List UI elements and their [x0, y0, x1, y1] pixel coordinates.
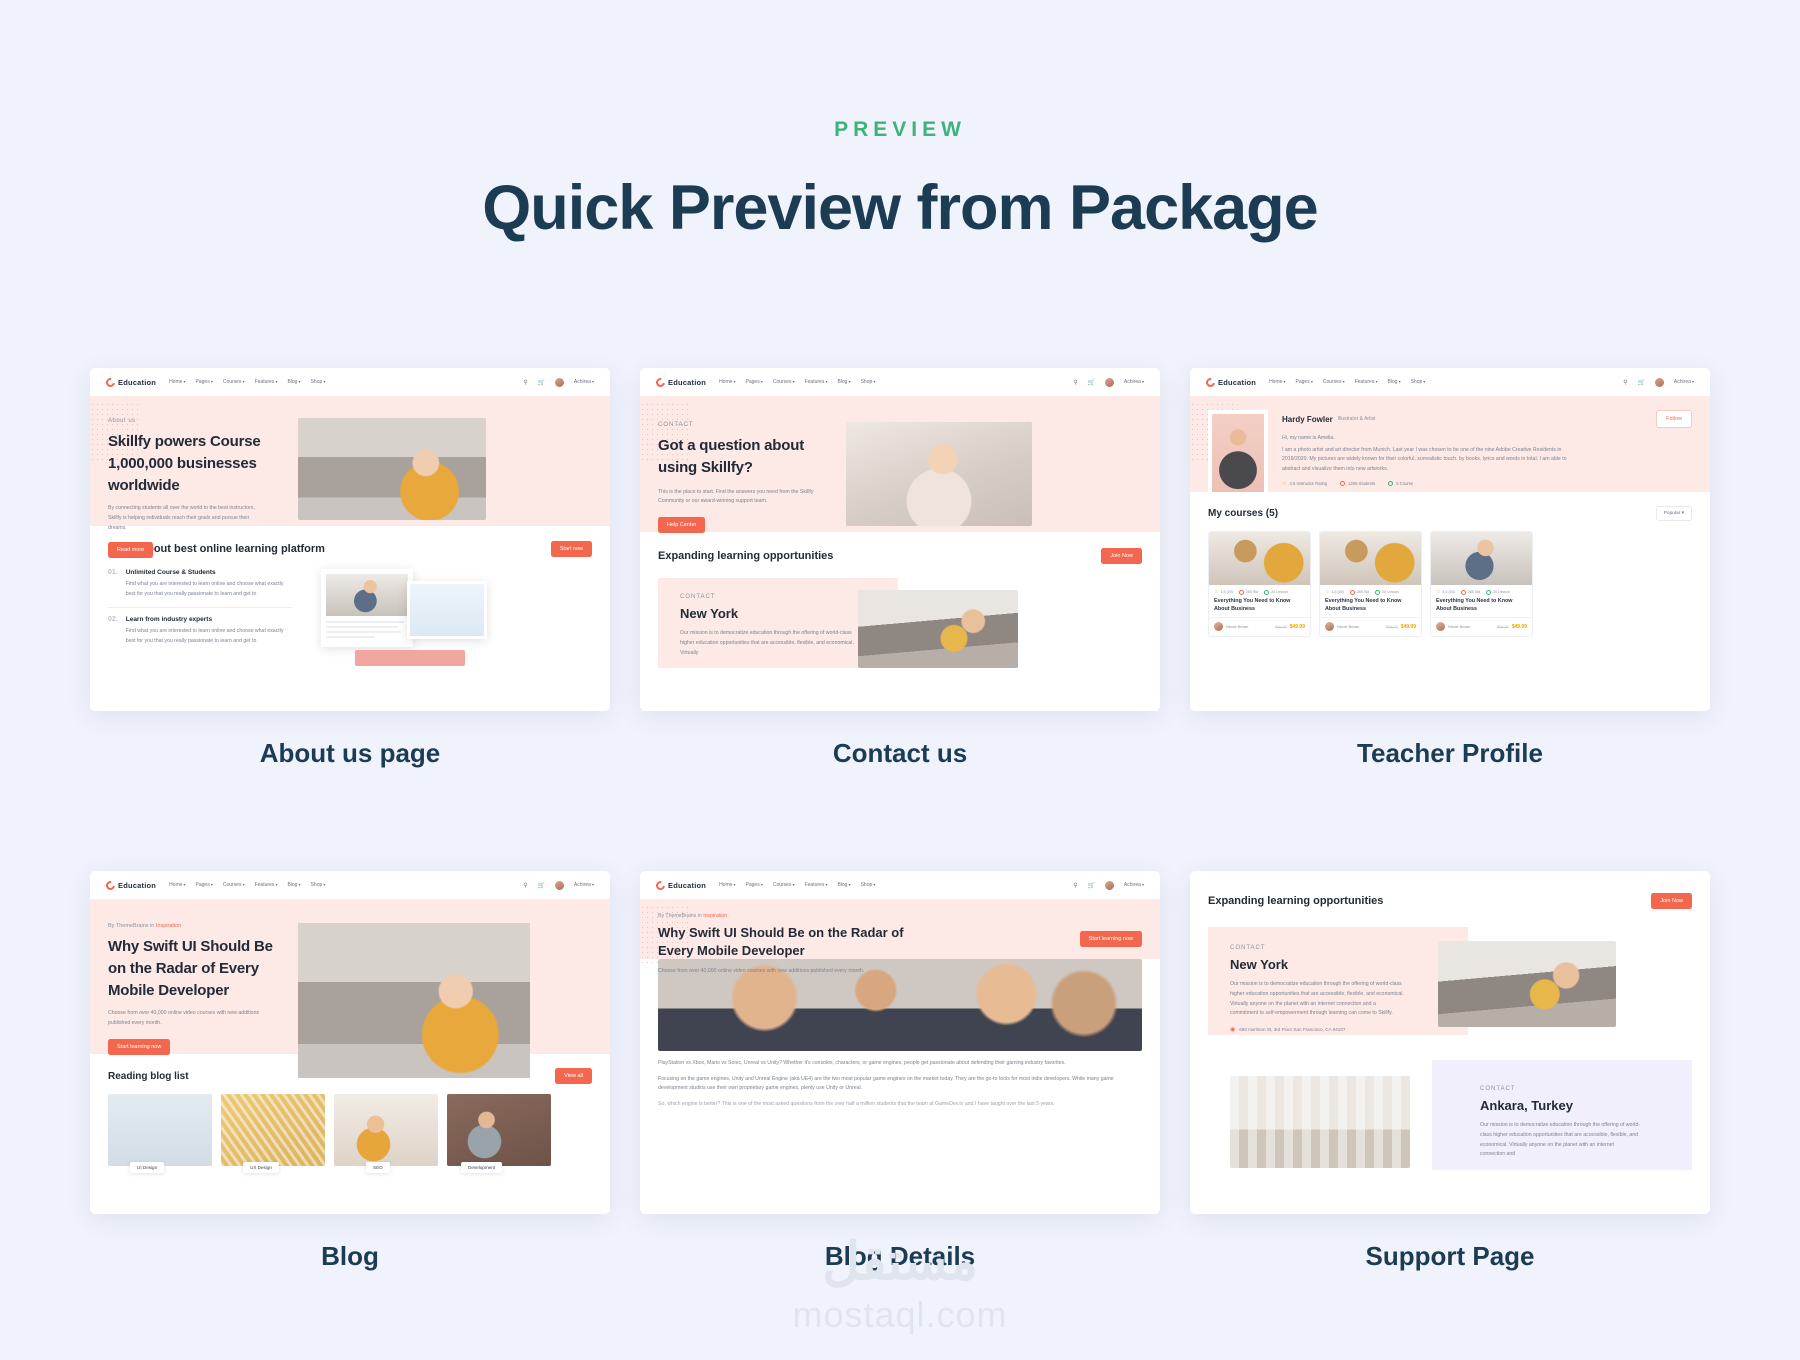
feature-text: Find what you are interested to learn on… — [126, 627, 293, 646]
card-caption-teacher-profile: Teacher Profile — [1190, 738, 1710, 769]
course-price: $49.99 — [1512, 624, 1527, 630]
nav-tools: ⚲ 🛒 Achirea — [1072, 880, 1144, 891]
brand-logo[interactable]: Education — [106, 378, 156, 387]
read-more-button[interactable]: Read more — [108, 542, 153, 558]
page-eyebrow: PREVIEW — [0, 118, 1800, 142]
course-students: 265 Std — [1350, 589, 1369, 595]
course-old-price: $69.00 — [1386, 625, 1398, 629]
brand-mark-icon — [104, 376, 117, 389]
screenshot-about-us[interactable]: Education Home Pages Courses Features Bl… — [90, 368, 610, 711]
feature-number: 02. — [108, 616, 118, 646]
nav-links: Home Pages Courses Features Blog Shop — [719, 379, 875, 385]
author-avatar — [1325, 622, 1334, 631]
users-icon — [1461, 590, 1466, 595]
nav-item-home[interactable]: Home — [169, 882, 185, 888]
screenshot-blog-details[interactable]: Education Home Pages Courses Features Bl… — [640, 871, 1160, 1214]
page-header: PREVIEW Quick Preview from Package — [0, 0, 1800, 244]
blog-tile[interactable]: UI Design — [108, 1094, 212, 1166]
contact-block: CONTACT New York Our mission is to democ… — [658, 578, 1142, 668]
hero-heading: Skillfy powers Course 1,000,000 business… — [108, 431, 284, 496]
nav-item-features[interactable]: Features — [805, 882, 828, 888]
nav-item-pages[interactable]: Pages — [746, 882, 763, 888]
play-icon — [1375, 590, 1380, 595]
nav-links: Home Pages Courses Features Blog Shop — [719, 882, 875, 888]
author-avatar — [1214, 622, 1223, 631]
contact-kicker: CONTACT — [1480, 1086, 1640, 1092]
article-paragraph-3: So, which engine is better? This is one … — [658, 1100, 1142, 1110]
course-rating: ☆4.5 (20) — [1214, 589, 1233, 595]
blog-thumbnail — [221, 1094, 325, 1166]
nav-item-home[interactable]: Home — [719, 882, 735, 888]
hero-paragraph: Choose from over 40,000 online video cou… — [108, 1009, 268, 1028]
hero-section: CONTACT Got a question about using Skill… — [640, 396, 1160, 532]
nav-item-pages[interactable]: Pages — [196, 882, 213, 888]
profile-band: Hardy Fowler Illustrator & Artist Follow… — [1190, 396, 1710, 492]
mini-navbar: Education Home Pages Courses Features Bl… — [640, 871, 1160, 899]
start-learning-button[interactable]: Start learning now — [108, 1039, 170, 1055]
start-learning-button[interactable]: Start learning now — [1080, 931, 1142, 947]
nav-item-pages[interactable]: Pages — [1296, 379, 1313, 385]
nav-item-blog[interactable]: Blog — [287, 882, 300, 888]
stat-rating: ☆4.5 Instructor Rating — [1282, 481, 1327, 487]
preview-grid: Education Home Pages Courses Features Bl… — [90, 368, 1710, 1272]
cart-icon[interactable]: 🛒 — [538, 379, 545, 386]
screenshot-contact-us[interactable]: Education Home Pages Courses Features Bl… — [640, 368, 1160, 711]
hero-image — [846, 422, 1032, 526]
blog-tile[interactable]: UX Design — [221, 1094, 325, 1166]
user-menu-label[interactable]: Achirea — [574, 379, 594, 385]
contact-city: New York — [1230, 956, 1405, 974]
nav-item-features[interactable]: Features — [1355, 379, 1378, 385]
hero-paragraph: Choose from over 40,000 online video cou… — [658, 967, 1080, 977]
star-icon: ☆ — [1325, 589, 1329, 595]
users-icon — [1350, 590, 1355, 595]
hero-kicker: CONTACT — [658, 422, 828, 428]
follow-button[interactable]: Follow — [1656, 410, 1692, 428]
course-price: $49.99 — [1290, 624, 1305, 630]
nav-item-courses[interactable]: Courses — [223, 379, 245, 385]
user-menu-label[interactable]: Achirea — [574, 882, 594, 888]
search-icon[interactable]: ⚲ — [1072, 379, 1079, 386]
teacher-role: Illustrator & Artist — [1338, 416, 1376, 422]
award-icon — [1340, 481, 1345, 486]
search-icon[interactable]: ⚲ — [1072, 882, 1079, 889]
course-thumbnail — [1320, 532, 1421, 585]
feature-item: 02. Learn from industry experts Find wha… — [108, 616, 293, 646]
nav-item-blog[interactable]: Blog — [287, 379, 300, 385]
teacher-name: Hardy Fowler — [1282, 415, 1333, 424]
course-footer: Nicole Brown $69.00 $49.99 — [1209, 617, 1310, 636]
course-card[interactable]: ☆4.5 (20) 265 Std 20 Lesson Everything Y… — [1430, 531, 1533, 637]
hero-image — [298, 418, 486, 520]
contact-block-new-york: CONTACT New York Our mission is to democ… — [1190, 927, 1710, 1042]
brand-logo[interactable]: Education — [1206, 378, 1256, 387]
contact-text: Our mission is to democratize education … — [1230, 980, 1405, 1019]
cart-icon[interactable]: 🛒 — [1088, 882, 1095, 889]
course-rating: ☆4.5 (20) — [1436, 589, 1455, 595]
section-title: Expanding learning opportunities — [658, 550, 833, 562]
blog-tile[interactable]: SEO — [334, 1094, 438, 1166]
contact-kicker: CONTACT — [680, 594, 855, 600]
byline-prefix: By ThemeBrains in — [108, 923, 154, 929]
nav-item-features[interactable]: Features — [255, 379, 278, 385]
course-old-price: $69.00 — [1275, 625, 1287, 629]
avatar[interactable] — [1104, 880, 1115, 891]
contact-image — [1230, 1076, 1410, 1168]
teacher-stats: ☆4.5 Instructor Rating 1265 Students 5 C… — [1282, 481, 1692, 487]
blog-tile[interactable]: Development — [447, 1094, 551, 1166]
preview-cell-blog: Education Home Pages Courses Features Bl… — [90, 871, 610, 1272]
course-meta: ☆4.5 (20) 265 Std 20 Lesson — [1320, 585, 1421, 597]
blog-thumbnail — [447, 1094, 551, 1166]
stat-courses-label: 5 Course — [1396, 481, 1413, 486]
byline-prefix: By ThemeBrains in — [658, 913, 702, 919]
stat-students: 1265 Students — [1340, 481, 1375, 486]
nav-item-blog[interactable]: Blog — [837, 882, 850, 888]
screenshot-support-page[interactable]: Expanding learning opportunities Join No… — [1190, 871, 1710, 1214]
contact-kicker: CONTACT — [1230, 945, 1405, 951]
location-pin-icon: ◉ — [1230, 1026, 1235, 1033]
hero-section: By ThemeBrains in Inspiration Why Swift … — [90, 899, 610, 1054]
brand-logo[interactable]: Education — [106, 881, 156, 890]
nav-tools: ⚲ 🛒 Achirea — [522, 880, 594, 891]
blog-thumbnail — [108, 1094, 212, 1166]
teacher-bio-line-1: Hi, my name is Amelia. — [1282, 434, 1692, 444]
author-avatar — [1436, 622, 1445, 631]
course-author: Nicole Brown — [1226, 625, 1248, 629]
expanding-section: Expanding learning opportunities Join No… — [640, 532, 1160, 668]
course-title: Everything You Need to Know About Busine… — [1320, 597, 1421, 617]
play-icon — [1264, 590, 1269, 595]
hero-heading: Why Swift UI Should Be on the Radar of E… — [108, 936, 286, 1001]
section-title: Expanding learning opportunities — [1208, 895, 1383, 907]
nav-item-pages[interactable]: Pages — [196, 379, 213, 385]
contact-city: New York — [680, 605, 855, 623]
search-icon[interactable]: ⚲ — [1622, 379, 1629, 386]
blog-tag[interactable]: Development — [461, 1162, 502, 1173]
search-icon[interactable]: ⚲ — [522, 882, 529, 889]
course-students: 265 Std — [1461, 589, 1480, 595]
page-title: Quick Preview from Package — [0, 172, 1800, 244]
preview-cell-support-page: Expanding learning opportunities Join No… — [1190, 871, 1710, 1272]
hero-kicker: About us — [108, 418, 284, 424]
nav-item-courses[interactable]: Courses — [773, 882, 795, 888]
nav-item-shop[interactable]: Shop — [1411, 379, 1426, 385]
screenshot-teacher-profile[interactable]: Education Home Pages Courses Features Bl… — [1190, 368, 1710, 711]
cart-icon[interactable]: 🛒 — [1638, 379, 1645, 386]
card-caption-contact-us: Contact us — [640, 738, 1160, 769]
help-center-button[interactable]: Help Center — [658, 517, 705, 533]
nav-links: Home Pages Courses Features Blog Shop — [169, 882, 325, 888]
play-icon — [1388, 481, 1393, 486]
cart-icon[interactable]: 🛒 — [538, 882, 545, 889]
watermark-latin: mostaql.com — [0, 1294, 1800, 1336]
nav-links: Home Pages Courses Features Blog Shop — [1269, 379, 1425, 385]
blog-byline: By ThemeBrains in Inspiration — [658, 913, 1080, 919]
course-students: 265 Std — [1239, 589, 1258, 595]
course-meta: ☆4.5 (20) 265 Std 20 Lesson — [1431, 585, 1532, 597]
sort-dropdown[interactable]: Popular — [1656, 506, 1692, 521]
nav-tools: ⚲ 🛒 Achirea — [1072, 377, 1144, 388]
brand-name: Education — [118, 378, 156, 387]
card-caption-about-us: About us page — [90, 738, 610, 769]
stat-rating-label: 4.5 Instructor Rating — [1289, 481, 1327, 486]
course-price: $49.99 — [1401, 624, 1416, 630]
brand-logo[interactable]: Education — [656, 881, 706, 890]
course-lessons: 20 Lesson — [1486, 589, 1510, 595]
nav-item-shop[interactable]: Shop — [311, 379, 326, 385]
blog-byline: By ThemeBrains in Inspiration — [108, 923, 286, 929]
contact-text: Our mission is to democratize education … — [1480, 1121, 1640, 1160]
users-icon — [1239, 590, 1244, 595]
blog-thumbnail — [334, 1094, 438, 1166]
hero-section: About us Skillfy powers Course 1,000,000… — [90, 396, 610, 526]
feature-text: Find what you are interested to learn on… — [126, 580, 293, 599]
section-title: Reading blog list — [108, 1071, 189, 1082]
start-now-button[interactable]: Start now — [551, 541, 592, 557]
user-menu-label[interactable]: Achirea — [1674, 379, 1694, 385]
contact-block-ankara: CONTACT Ankara, Turkey Our mission is to… — [1190, 1060, 1710, 1170]
feature-collage — [307, 569, 497, 664]
course-old-price: $69.00 — [1497, 625, 1509, 629]
nav-item-blog[interactable]: Blog — [1387, 379, 1400, 385]
watermark: مستقل mostaql.com — [0, 1236, 1800, 1336]
my-courses-section: My courses (5) Popular ☆4.5 (20) 265 Std… — [1190, 492, 1710, 637]
play-icon — [1486, 590, 1491, 595]
nav-item-courses[interactable]: Courses — [1323, 379, 1345, 385]
brand-name: Education — [668, 378, 706, 387]
hero-paragraph: This is the place to start. Find the ans… — [658, 488, 816, 507]
teacher-bio-line-2: I am a photo artist and art director fro… — [1282, 446, 1582, 475]
star-icon: ☆ — [1436, 589, 1440, 595]
nav-item-home[interactable]: Home — [169, 379, 185, 385]
brand-name: Education — [668, 881, 706, 890]
brand-mark-icon — [104, 879, 117, 892]
stat-students-label: 1265 Students — [1348, 481, 1375, 486]
course-title: Everything You Need to Know About Busine… — [1209, 597, 1310, 617]
brand-mark-icon — [654, 376, 667, 389]
course-author: Nicole Brown — [1337, 625, 1359, 629]
course-footer: Nicole Brown $69.00 $49.99 — [1431, 617, 1532, 636]
preview-cell-contact-us: Education Home Pages Courses Features Bl… — [640, 368, 1160, 769]
byline-tag[interactable]: Inspiration — [156, 923, 181, 929]
stat-courses: 5 Course — [1388, 481, 1413, 486]
courses-title: My courses (5) — [1208, 508, 1278, 519]
nav-tools: ⚲ 🛒 Achirea — [1622, 377, 1694, 388]
course-meta: ☆4.5 (20) 265 Std 20 Lesson — [1209, 585, 1310, 597]
nav-tools: ⚲ 🛒 Achirea — [522, 377, 594, 388]
view-all-button[interactable]: View all — [555, 1068, 592, 1084]
cart-icon[interactable]: 🛒 — [1088, 379, 1095, 386]
preview-cell-teacher-profile: Education Home Pages Courses Features Bl… — [1190, 368, 1710, 769]
hero-image — [298, 923, 530, 1078]
mini-navbar: Education Home Pages Courses Features Bl… — [90, 368, 610, 396]
nav-item-blog[interactable]: Blog — [837, 379, 850, 385]
article-body: PlayStation vs Xbox, Mario vs Sonic, Unr… — [640, 959, 1160, 1110]
course-footer: Nicole Brown $69.00 $49.99 — [1320, 617, 1421, 636]
avatar[interactable] — [1104, 377, 1115, 388]
contact-image — [858, 590, 1018, 668]
course-title: Everything You Need to Know About Busine… — [1431, 597, 1532, 617]
preview-cell-about-us: Education Home Pages Courses Features Bl… — [90, 368, 610, 769]
avatar[interactable] — [1654, 377, 1665, 388]
hero-heading: Got a question about using Skillfy? — [658, 435, 828, 479]
article-paragraph-2: Focusing on the game engines, Unity and … — [658, 1075, 1142, 1094]
blog-tag[interactable]: UX Design — [243, 1162, 279, 1173]
feature-item: 01. Unlimited Course & Students Find wha… — [108, 569, 293, 599]
nav-item-courses[interactable]: Courses — [773, 379, 795, 385]
user-menu-label[interactable]: Achirea — [1124, 882, 1144, 888]
brand-name: Education — [118, 881, 156, 890]
course-author: Nicole Brown — [1448, 625, 1470, 629]
feature-title: Learn from industry experts — [126, 616, 293, 623]
hero-heading: Why Swift UI Should Be on the Radar of E… — [658, 924, 908, 961]
nav-item-shop[interactable]: Shop — [311, 882, 326, 888]
user-menu-label[interactable]: Achirea — [1124, 379, 1144, 385]
preview-cell-blog-details: Education Home Pages Courses Features Bl… — [640, 871, 1160, 1272]
course-thumbnail — [1209, 532, 1310, 585]
byline-tag[interactable]: Inspiration — [703, 913, 727, 919]
contact-text: Our mission is to democratize education … — [680, 629, 855, 658]
course-lessons: 20 Lesson — [1375, 589, 1399, 595]
expanding-section: Expanding learning opportunities Join No… — [1190, 871, 1710, 909]
course-lessons: 20 Lesson — [1264, 589, 1288, 595]
hero-paragraph: By connecting students all over the worl… — [108, 504, 268, 533]
search-icon[interactable]: ⚲ — [522, 379, 529, 386]
feature-number: 01. — [108, 569, 118, 599]
nav-item-features[interactable]: Features — [805, 379, 828, 385]
nav-item-home[interactable]: Home — [719, 379, 735, 385]
nav-links: Home Pages Courses Features Blog Shop — [169, 379, 325, 385]
avatar[interactable] — [554, 377, 565, 388]
star-icon: ☆ — [1282, 481, 1286, 487]
nav-item-shop[interactable]: Shop — [861, 379, 876, 385]
screenshot-blog[interactable]: Education Home Pages Courses Features Bl… — [90, 871, 610, 1214]
course-card[interactable]: ☆4.5 (20) 265 Std 20 Lesson Everything Y… — [1208, 531, 1311, 637]
mini-navbar: Education Home Pages Courses Features Bl… — [640, 368, 1160, 396]
contact-image — [1438, 941, 1616, 1027]
hero-section: By ThemeBrains in Inspiration Why Swift … — [640, 899, 1160, 959]
mini-navbar: Education Home Pages Courses Features Bl… — [90, 871, 610, 899]
blog-tag[interactable]: SEO — [366, 1162, 390, 1173]
brand-logo[interactable]: Education — [656, 378, 706, 387]
join-now-button[interactable]: Join Now — [1651, 893, 1692, 909]
course-rating: ☆4.5 (20) — [1325, 589, 1344, 595]
brand-mark-icon — [1204, 376, 1217, 389]
nav-item-pages[interactable]: Pages — [746, 379, 763, 385]
nav-item-features[interactable]: Features — [255, 882, 278, 888]
article-paragraph-1: PlayStation vs Xbox, Mario vs Sonic, Unr… — [658, 1059, 1142, 1069]
nav-item-shop[interactable]: Shop — [861, 882, 876, 888]
blog-tag[interactable]: UI Design — [130, 1162, 164, 1173]
star-icon: ☆ — [1214, 589, 1218, 595]
contact-city: Ankara, Turkey — [1480, 1097, 1640, 1115]
feature-title: Unlimited Course & Students — [126, 569, 293, 576]
mini-navbar: Education Home Pages Courses Features Bl… — [1190, 368, 1710, 396]
nav-item-home[interactable]: Home — [1269, 379, 1285, 385]
avatar[interactable] — [554, 880, 565, 891]
brand-mark-icon — [654, 879, 667, 892]
course-card[interactable]: ☆4.5 (20) 265 Std 20 Lesson Everything Y… — [1319, 531, 1422, 637]
join-now-button[interactable]: Join Now — [1101, 548, 1142, 564]
contact-address: 660 Harrison St, 3rd Floor San Francisco… — [1239, 1027, 1345, 1032]
brand-name: Education — [1218, 378, 1256, 387]
nav-item-courses[interactable]: Courses — [223, 882, 245, 888]
watermark-arabic: مستقل — [0, 1236, 1800, 1288]
course-thumbnail — [1431, 532, 1532, 585]
